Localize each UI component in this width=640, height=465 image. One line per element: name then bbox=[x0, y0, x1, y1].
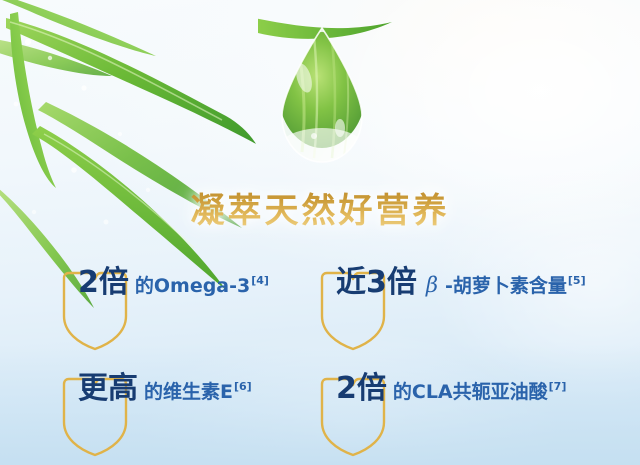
claim-item-omega3: 2倍 的Omega-3 [4] bbox=[58, 268, 269, 298]
promo-banner: 凝萃天然好营养 2倍 的Omega-3 [4] 近3倍 β -胡萝卜素含量 [5… bbox=[0, 0, 640, 465]
claim-footnote: [6] bbox=[234, 381, 252, 392]
claim-footnote: [7] bbox=[549, 381, 567, 392]
claims-grid: 2倍 的Omega-3 [4] 近3倍 β -胡萝卜素含量 [5] 更 高 bbox=[0, 262, 640, 462]
claim-text: 近3倍 β -胡萝卜素含量 [5] bbox=[336, 268, 586, 298]
claim-item-vitamin-e: 更 高 的维生素E [6] bbox=[58, 374, 252, 404]
claim-lead: 2倍 bbox=[78, 268, 129, 298]
claim-lead: 更 bbox=[78, 374, 108, 404]
claim-footnote: [5] bbox=[568, 275, 586, 286]
claim-rest: 的CLA共轭亚油酸 bbox=[393, 383, 548, 402]
water-droplet-illustration bbox=[258, 16, 398, 176]
claim-lead: 2倍 bbox=[336, 374, 387, 404]
claim-text: 2倍 的CLA共轭亚油酸 [7] bbox=[336, 374, 566, 404]
claim-rest: 的维生素E bbox=[144, 383, 233, 402]
claim-lead: 近3倍 bbox=[336, 268, 417, 298]
claim-rest: 的Omega-3 bbox=[135, 277, 250, 296]
claim-item-cla: 2倍 的CLA共轭亚油酸 [7] bbox=[316, 374, 566, 404]
claim-footnote: [4] bbox=[251, 275, 269, 286]
claim-lead-highlight: 高 bbox=[108, 374, 138, 404]
claim-rest: -胡萝卜素含量 bbox=[445, 277, 567, 296]
claim-item-beta-carotene: 近3倍 β -胡萝卜素含量 [5] bbox=[316, 268, 586, 298]
claim-text: 2倍 的Omega-3 [4] bbox=[78, 268, 269, 298]
claim-text: 更 高 的维生素E [6] bbox=[78, 374, 252, 404]
page-title: 凝萃天然好营养 bbox=[0, 183, 640, 232]
claim-beta-symbol: β bbox=[426, 275, 438, 296]
